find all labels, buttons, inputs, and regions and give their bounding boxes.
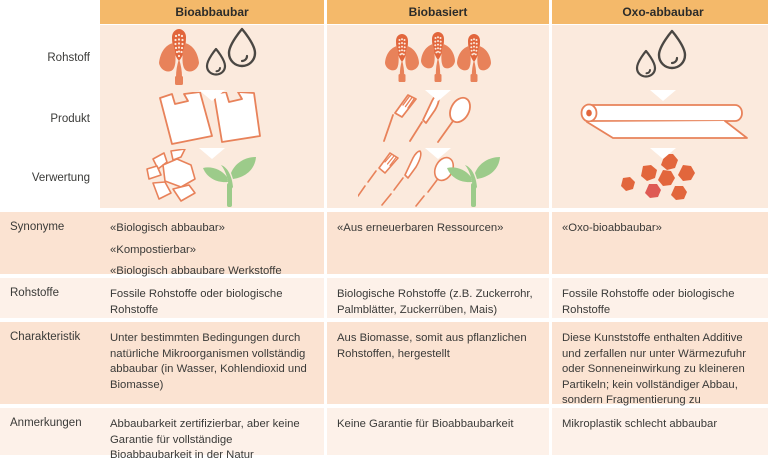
- film-roll-icon-group: [575, 95, 751, 143]
- corn-cob-icon: [457, 34, 491, 82]
- corn-field-icons-group: [379, 27, 497, 89]
- column-header-label: Bioabbaubar: [175, 5, 248, 19]
- corn-cob-icon: [159, 29, 199, 85]
- row-label-charakteristik: Charakteristik: [0, 322, 100, 404]
- plastic-bag-icon: [160, 92, 212, 144]
- oil-droplet-icon: [659, 31, 685, 68]
- cell-charakteristik-bioabbaubar: Unter bestimmten Bedingungen durch natür…: [100, 322, 324, 404]
- row-label-synonyme: Synonyme: [0, 212, 100, 274]
- fork-icon: [384, 95, 416, 141]
- microplastic-particles-icon: [615, 152, 711, 204]
- cell-produkt-biobasiert: [327, 90, 549, 148]
- spoon-icon: [438, 94, 474, 142]
- cell-produkt-bioabbaubar: [100, 90, 324, 148]
- oil-droplet-icon: [207, 49, 225, 75]
- synonym-item: «Biologisch abbaubar»: [110, 221, 312, 237]
- degrading-cutlery-icon: [358, 151, 457, 206]
- cell-produkt-oxo-abbaubar: [552, 90, 768, 148]
- synonym-item: «Oxo-bioabbaubar»: [562, 221, 762, 237]
- oil-droplet-icon: [637, 51, 655, 77]
- text-row-charakteristik: Charakteristik Unter bestimmten Bedingun…: [0, 322, 768, 404]
- rohstoff-icons-group: [147, 27, 277, 89]
- cell-anmerkungen-oxo-abbaubar: Mikroplastik schlecht abbaubar: [552, 408, 768, 455]
- table-header-row: Bioabbaubar Biobasiert Oxo-abbaubar: [0, 0, 768, 24]
- header-corner-spacer: [0, 0, 100, 24]
- cell-anmerkungen-biobasiert: Keine Garantie für Bioabbaubarkeit: [327, 408, 549, 455]
- row-label-rohstoffe: Rohstoffe: [0, 278, 100, 318]
- cell-charakteristik-biobasiert: Aus Biomasse, somit aus pflanzlichen Roh…: [327, 322, 549, 404]
- column-header-oxo-abbaubar: Oxo-abbaubar: [552, 0, 768, 24]
- degrading-bag-icon: [147, 149, 195, 201]
- row-label-produkt: Produkt: [0, 90, 100, 148]
- microplastic-particle-highlight: [645, 184, 661, 198]
- cell-rohstoffe-bioabbaubar: Fossile Rohstoffe oder biologische Rohst…: [100, 278, 324, 318]
- plant-sprout-icon: [447, 157, 500, 207]
- column-header-bioabbaubar: Bioabbaubar: [100, 0, 324, 24]
- comparison-table: Bioabbaubar Biobasiert Oxo-abbaubar Rohs…: [0, 0, 768, 462]
- text-row-synonyme: Synonyme «Biologisch abbaubar» «Komposti…: [0, 212, 768, 274]
- column-header-label: Oxo-abbaubar: [622, 5, 703, 19]
- cell-rohstoff-bioabbaubar: [100, 25, 324, 90]
- icon-row-produkt: Produkt: [0, 90, 768, 148]
- cell-verwertung-bioabbaubar: [100, 148, 324, 208]
- synonym-item: «Aus erneuerbaren Ressourcen»: [337, 221, 537, 237]
- synonym-item: «Kompostierbar»: [110, 243, 312, 259]
- cell-rohstoffe-oxo-abbaubar: Fossile Rohstoffe oder biologische Rohst…: [552, 278, 768, 318]
- cell-rohstoff-oxo-abbaubar: [552, 25, 768, 90]
- cell-synonyme-oxo-abbaubar: «Oxo-bioabbaubar»: [552, 212, 768, 274]
- cell-synonyme-biobasiert: «Aus erneuerbaren Ressourcen»: [327, 212, 549, 274]
- plant-sprout-icon: [203, 157, 256, 207]
- cell-rohstoff-biobasiert: [327, 25, 549, 90]
- cell-verwertung-oxo-abbaubar: [552, 148, 768, 208]
- text-row-anmerkungen: Anmerkungen Abbaubarkeit zertifizierbar,…: [0, 408, 768, 455]
- corn-cob-icon: [421, 32, 455, 82]
- row-label-anmerkungen: Anmerkungen: [0, 408, 100, 455]
- cell-charakteristik-oxo-abbaubar: Diese Kunststoffe enthalten Additive und…: [552, 322, 768, 404]
- icon-row-verwertung: Verwertung: [0, 148, 768, 208]
- corn-cob-icon: [385, 34, 419, 82]
- oil-droplet-icon: [229, 29, 255, 66]
- row-label-rohstoff: Rohstoff: [0, 25, 100, 90]
- cell-rohstoffe-biobasiert: Biologische Rohstoffe (z.B. Zuckerrohr, …: [327, 278, 549, 318]
- column-header-label: Biobasiert: [409, 5, 468, 19]
- column-header-biobasiert: Biobasiert: [327, 0, 549, 24]
- icon-row-rohstoff: Rohstoff: [0, 25, 768, 90]
- row-label-verwertung: Verwertung: [0, 148, 100, 208]
- roll-core-icon: [586, 110, 592, 117]
- cell-anmerkungen-bioabbaubar: Abbaubarkeit zertifizierbar, aber keine …: [100, 408, 324, 455]
- plastic-bag-icon: [214, 92, 260, 142]
- cell-synonyme-bioabbaubar: «Biologisch abbaubar» «Kompostierbar» «B…: [100, 212, 324, 274]
- droplets-icons-group: [623, 29, 703, 87]
- cell-verwertung-biobasiert: [327, 148, 549, 208]
- plastic-film-roll-icon: [582, 105, 748, 139]
- text-row-rohstoffe: Rohstoffe Fossile Rohstoffe oder biologi…: [0, 278, 768, 318]
